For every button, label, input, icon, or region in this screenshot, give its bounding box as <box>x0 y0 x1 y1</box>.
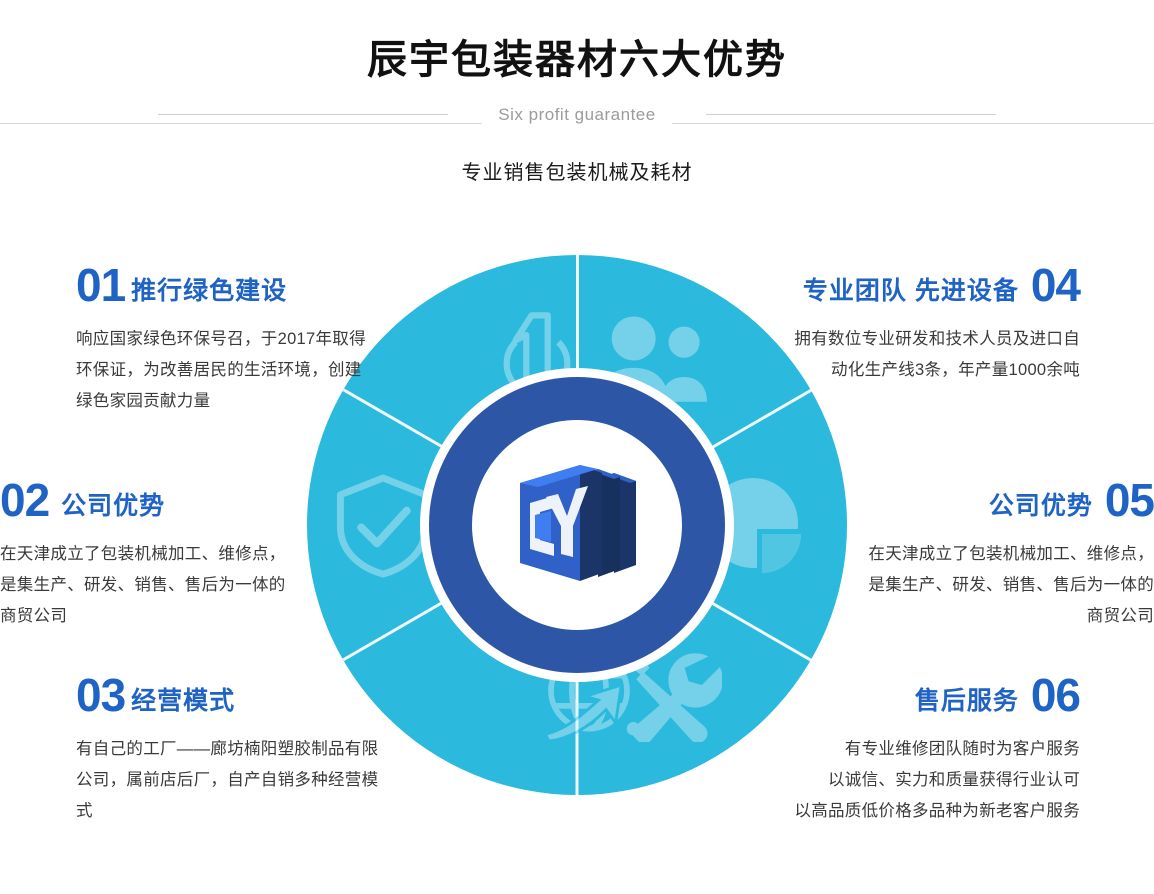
feature-number-05: 05 <box>1105 474 1154 526</box>
six-sector-wheel <box>307 255 847 795</box>
page-subtitle: 专业销售包装机械及耗材 <box>0 156 1154 185</box>
feature-number-04: 04 <box>1031 259 1080 311</box>
feature-block-04: 专业团队 先进设备04 拥有数位专业研发和技术人员及进口自动化生产线3条，年产量… <box>780 262 1080 386</box>
divider-caption: Six profit guarantee <box>0 104 1154 126</box>
feature-title-05: 公司优势 <box>989 492 1093 520</box>
feature-heading-02: 02公司优势 <box>0 477 292 523</box>
feature-body-02: 在天津成立了包装机械加工、维修点，是集生产、研发、销售、售后为一体的商贸公司 <box>0 539 292 632</box>
feature-title-06: 售后服务 <box>915 687 1019 715</box>
divider-caption-text: Six profit guarantee <box>482 105 671 124</box>
feature-heading-03: 03经营模式 <box>76 672 388 718</box>
feature-heading-05: 公司优势05 <box>856 477 1154 523</box>
feature-title-01: 推行绿色建设 <box>131 277 287 305</box>
feature-body-01: 响应国家绿色环保号召，于2017年取得环保证，为改善居民的生活环境，创建绿色家园… <box>76 324 376 417</box>
page-title: 辰宇包装器材六大优势 <box>0 34 1154 86</box>
package-box-cy-logo <box>502 447 652 597</box>
feature-block-05: 公司优势05 在天津成立了包装机械加工、维修点，是集生产、研发、销售、售后为一体… <box>856 477 1154 632</box>
feature-body-04: 拥有数位专业研发和技术人员及进口自动化生产线3条，年产量1000余吨 <box>780 324 1080 386</box>
feature-number-01: 01 <box>76 259 125 311</box>
feature-title-04: 专业团队 先进设备 <box>803 277 1019 305</box>
feature-heading-01: 01推行绿色建设 <box>76 262 376 308</box>
feature-number-02: 02 <box>0 474 49 526</box>
feature-block-03: 03经营模式 有自己的工厂——廊坊楠阳塑胶制品有限公司，属前店后厂，自产自销多种… <box>76 672 388 827</box>
feature-body-05: 在天津成立了包装机械加工、维修点，是集生产、研发、销售、售后为一体的商贸公司 <box>856 539 1154 632</box>
feature-block-01: 01推行绿色建设 响应国家绿色环保号召，于2017年取得环保证，为改善居民的生活… <box>76 262 376 417</box>
feature-title-03: 经营模式 <box>131 687 235 715</box>
feature-title-02: 公司优势 <box>61 492 165 520</box>
shield-check-icon <box>333 473 433 578</box>
feature-heading-04: 专业团队 先进设备04 <box>780 262 1080 308</box>
feature-body-06: 有专业维修团队随时为客户服务 以诚信、实力和质量获得行业认可 以高品质低价格多品… <box>780 734 1080 827</box>
feature-block-02: 02公司优势 在天津成立了包装机械加工、维修点，是集生产、研发、销售、售后为一体… <box>0 477 292 632</box>
feature-number-03: 03 <box>76 669 125 721</box>
feature-block-06: 售后服务06 有专业维修团队随时为客户服务 以诚信、实力和质量获得行业认可 以高… <box>780 672 1080 827</box>
feature-heading-06: 售后服务06 <box>780 672 1080 718</box>
decorative-divider: Six profit guarantee <box>0 104 1154 138</box>
feature-body-03: 有自己的工厂——廊坊楠阳塑胶制品有限公司，属前店后厂，自产自销多种经营模式 <box>76 734 388 827</box>
page-header: 辰宇包装器材六大优势 Six profit guarantee 专业销售包装机械… <box>0 0 1154 210</box>
feature-number-06: 06 <box>1031 669 1080 721</box>
